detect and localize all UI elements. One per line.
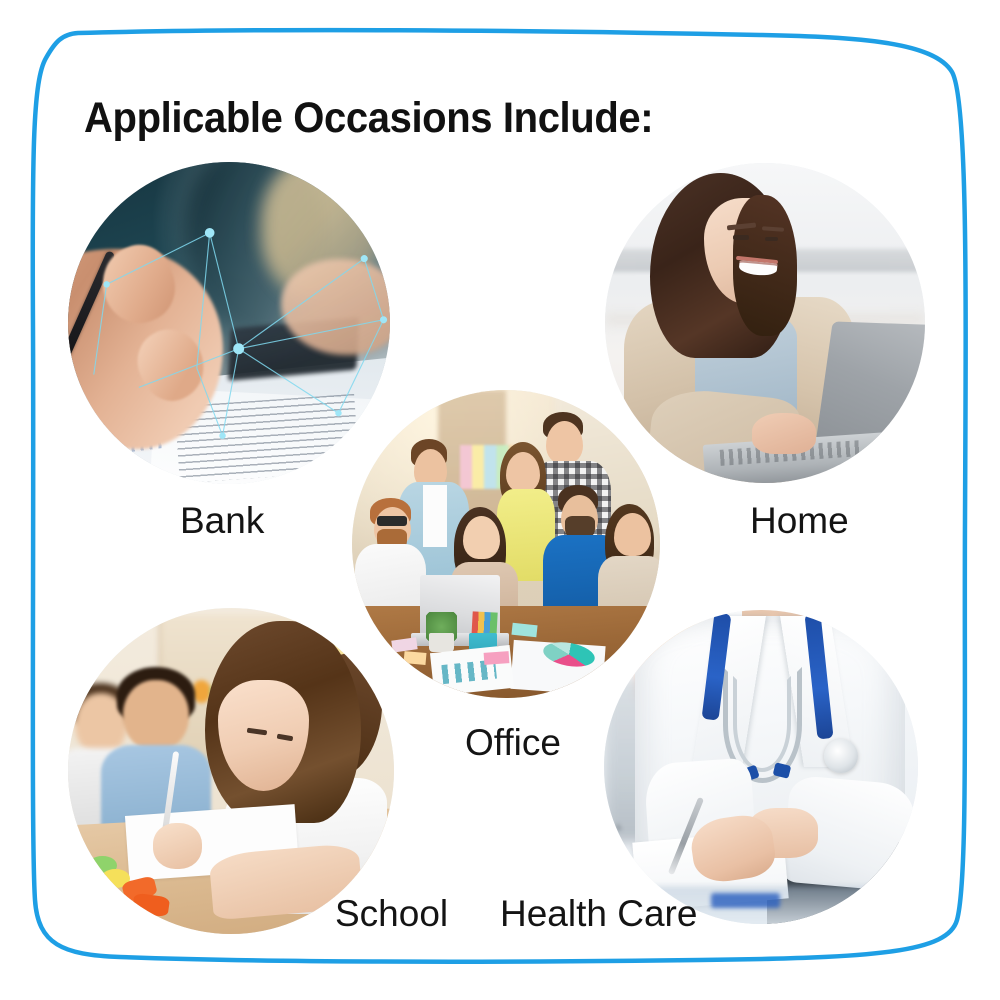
occasion-label-health-care: Health Care bbox=[500, 893, 697, 935]
office-person1-glasses bbox=[377, 516, 408, 525]
office-person4-head bbox=[546, 421, 583, 464]
occasion-image-health-care[interactable] bbox=[604, 610, 918, 924]
home-eye-left bbox=[733, 235, 749, 239]
office-sticky-note-4 bbox=[512, 623, 538, 638]
stethoscope-tube-inner-icon bbox=[733, 676, 791, 772]
home-eye-right bbox=[765, 237, 778, 241]
office-plant-pot bbox=[429, 633, 454, 651]
healthcare-reflection-highlight bbox=[711, 893, 780, 909]
office-sticky-note-3 bbox=[484, 651, 509, 665]
school-girl-hand bbox=[153, 823, 202, 869]
office-sticky-note-2 bbox=[404, 651, 427, 665]
occasion-image-school[interactable] bbox=[68, 608, 394, 934]
promo-card: Applicable Occasions Include: bbox=[0, 0, 1000, 1000]
office-person6-head bbox=[614, 513, 651, 556]
bank-network-overlay-icon bbox=[68, 162, 390, 484]
home-hand-on-keyboard bbox=[752, 413, 816, 455]
office-person2-white-tee bbox=[423, 485, 448, 547]
occasion-label-school: School bbox=[335, 893, 448, 935]
occasion-label-bank: Bank bbox=[180, 500, 264, 542]
office-person7-head bbox=[463, 516, 500, 559]
school-boy-head bbox=[123, 680, 188, 752]
office-person3-head bbox=[506, 452, 540, 492]
page-title: Applicable Occasions Include: bbox=[84, 94, 653, 143]
occasion-label-office: Office bbox=[465, 722, 561, 764]
occasion-label-home: Home bbox=[750, 500, 849, 542]
occasion-image-bank[interactable] bbox=[68, 162, 390, 484]
